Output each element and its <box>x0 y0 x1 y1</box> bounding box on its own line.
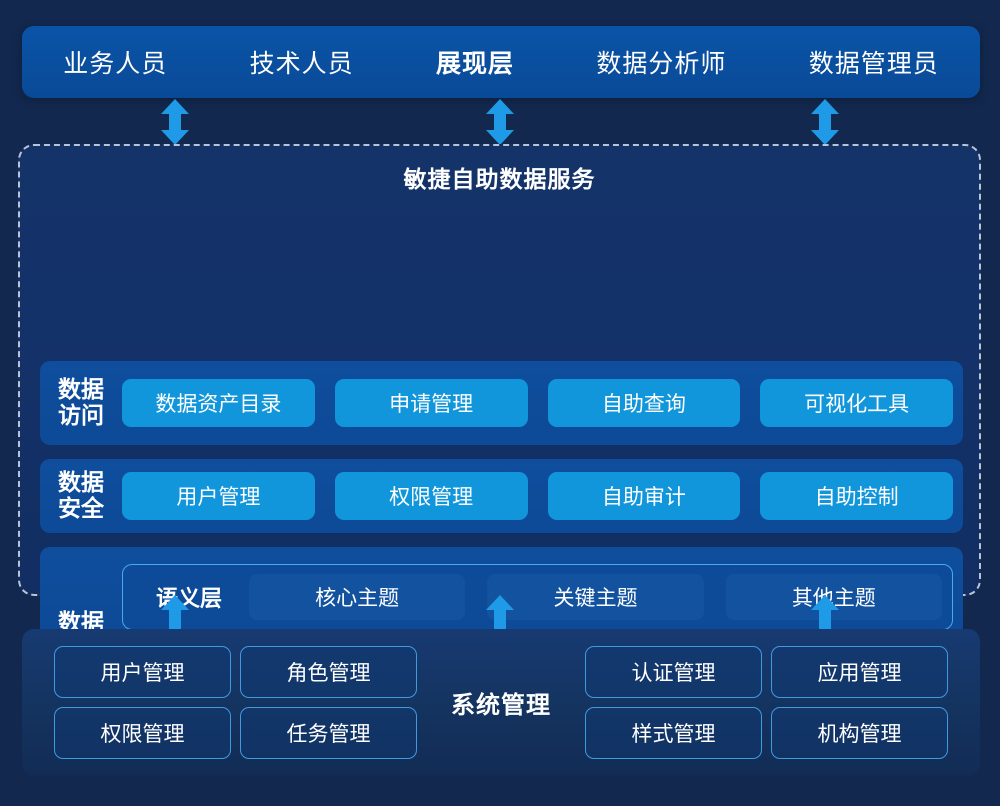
sys-btn-application-management[interactable]: 应用管理 <box>771 646 948 698</box>
chip-user-management[interactable]: 用户管理 <box>122 472 315 520</box>
presentation-layer-title: 展现层 <box>430 44 520 80</box>
chip-application-management[interactable]: 申请管理 <box>335 379 528 427</box>
chip-self-service-query[interactable]: 自助查询 <box>548 379 741 427</box>
presentation-item-data-admin[interactable]: 数据管理员 <box>803 44 945 80</box>
data-access-label: 数据 访问 <box>40 377 122 429</box>
agile-data-service-title: 敏捷自助数据服务 <box>20 160 979 194</box>
sys-btn-user-management[interactable]: 用户管理 <box>54 646 231 698</box>
chip-data-asset-catalog[interactable]: 数据资产目录 <box>122 379 315 427</box>
sys-btn-auth-management[interactable]: 认证管理 <box>585 646 762 698</box>
sys-btn-role-management[interactable]: 角色管理 <box>240 646 417 698</box>
system-management-right-group: 认证管理 应用管理 样式管理 机构管理 <box>585 646 948 759</box>
sys-btn-organization-management[interactable]: 机构管理 <box>771 707 948 759</box>
arrow-presentation-right-icon <box>810 99 840 145</box>
arrow-presentation-left-icon <box>160 99 190 145</box>
sys-btn-style-management[interactable]: 样式管理 <box>585 707 762 759</box>
chip-core-subject[interactable]: 核心主题 <box>249 574 465 620</box>
data-access-chip-group: 数据资产目录 申请管理 自助查询 可视化工具 <box>122 379 963 427</box>
chip-self-service-audit[interactable]: 自助审计 <box>548 472 741 520</box>
arrow-system-right-icon <box>810 595 840 631</box>
sys-btn-task-management[interactable]: 任务管理 <box>240 707 417 759</box>
diagram-canvas: 业务人员 技术人员 展现层 数据分析师 数据管理员 敏捷自助数据服务 数据 访问… <box>0 0 1000 806</box>
chip-visualization-tool[interactable]: 可视化工具 <box>760 379 953 427</box>
data-security-row: 数据 安全 用户管理 权限管理 自助审计 自助控制 <box>40 459 963 533</box>
chip-self-service-control[interactable]: 自助控制 <box>760 472 953 520</box>
chip-permission-management[interactable]: 权限管理 <box>335 472 528 520</box>
system-management-title: 系统管理 <box>417 685 585 720</box>
presentation-item-business-staff[interactable]: 业务人员 <box>57 44 173 80</box>
system-management-left-group: 用户管理 角色管理 权限管理 任务管理 <box>54 646 417 759</box>
system-management-panel: 用户管理 角色管理 权限管理 任务管理 系统管理 认证管理 应用管理 样式管理 … <box>22 629 980 776</box>
sys-btn-permission-management[interactable]: 权限管理 <box>54 707 231 759</box>
presentation-item-data-analyst[interactable]: 数据分析师 <box>590 44 732 80</box>
arrow-system-center-icon <box>485 595 515 631</box>
data-security-label: 数据 安全 <box>40 470 122 522</box>
presentation-item-technical-staff[interactable]: 技术人员 <box>244 44 360 80</box>
data-access-row: 数据 访问 数据资产目录 申请管理 自助查询 可视化工具 <box>40 361 963 445</box>
chip-key-subject[interactable]: 关键主题 <box>487 574 703 620</box>
presentation-layer-bar: 业务人员 技术人员 展现层 数据分析师 数据管理员 <box>22 26 980 98</box>
data-security-chip-group: 用户管理 权限管理 自助审计 自助控制 <box>122 472 963 520</box>
arrow-presentation-center-icon <box>485 99 515 145</box>
arrow-system-left-icon <box>160 595 190 631</box>
agile-data-service-container: 敏捷自助数据服务 数据 访问 数据资产目录 申请管理 自助查询 可视化工具 数据… <box>18 144 981 596</box>
